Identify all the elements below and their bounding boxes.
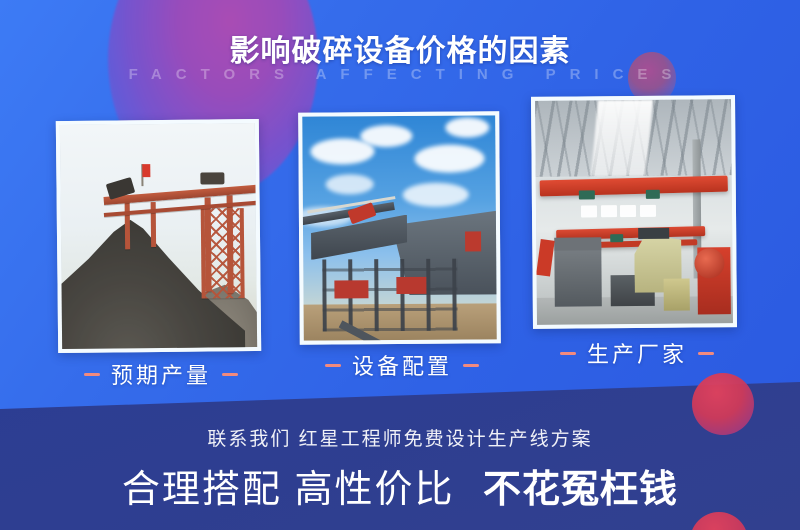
red-crusher-unit-2 [334,280,368,298]
stockpile-conveyor-photo [56,119,261,353]
crane-trolley-3 [611,234,624,242]
page-subtitle: FACTORS AFFECTING PRICES [0,66,800,83]
dash-left-icon [325,364,341,367]
caption-text: 生产厂家 [587,337,687,369]
cloud-2 [360,125,412,147]
crushing-plant-photo [298,111,501,344]
footer-slogan-line: 合理搭配 高性价比 不花冤枉钱 [0,458,800,513]
workshop-window-3 [620,205,636,217]
dash-right-icon [463,364,479,367]
dash-left-icon [560,352,576,355]
skylight-glare [590,100,652,177]
promo-banner: 影响破碎设备价格的因素 FACTORS AFFECTING PRICES [0,0,800,530]
gantry-leg-d [226,195,233,294]
workshop-window-1 [581,206,597,218]
crushing-plant-scene [302,115,497,340]
dash-right-icon [698,352,714,355]
impact-crusher-feed-box [638,227,669,238]
crane-trolley-1 [579,190,595,199]
footer-slogan-strong: 不花冤枉钱 [483,469,678,511]
factory-workshop-photo [531,95,737,329]
caption-equipment-config: 设备配置 [325,349,479,381]
conveyor-head-pulley-2 [201,173,225,185]
workshop-window-2 [601,205,617,217]
banner-header: 影响破碎设备价格的因素 FACTORS AFFECTING PRICES [0,0,800,100]
red-flag [142,164,150,177]
red-crusher-unit-3 [396,277,426,294]
red-crusher-unit-4 [465,232,481,252]
stockpile-scene [60,123,257,349]
caption-manufacturer: 生产厂家 [560,337,714,369]
factory-workshop-scene [535,99,733,325]
grey-machine-frame [554,244,602,307]
workshop-window-4 [640,205,656,217]
dash-left-icon [84,373,100,376]
footer-contact-line: 联系我们 红星工程师免费设计生产线方案 [0,424,800,451]
footer-slogan-light: 合理搭配 高性价比 [122,469,455,511]
caption-text: 设备配置 [352,349,452,381]
gantry-leg-c [205,197,212,291]
caption-text: 预期产量 [111,358,211,390]
crane-trolley-2 [646,189,660,198]
yellow-machine-part [664,279,690,311]
page-title: 影响破碎设备价格的因素 [0,26,800,70]
dash-right-icon [222,373,238,376]
caption-expected-output: 预期产量 [84,358,238,390]
gantry-leg-a [125,200,131,249]
grey-machine-crossbeam [554,237,601,251]
